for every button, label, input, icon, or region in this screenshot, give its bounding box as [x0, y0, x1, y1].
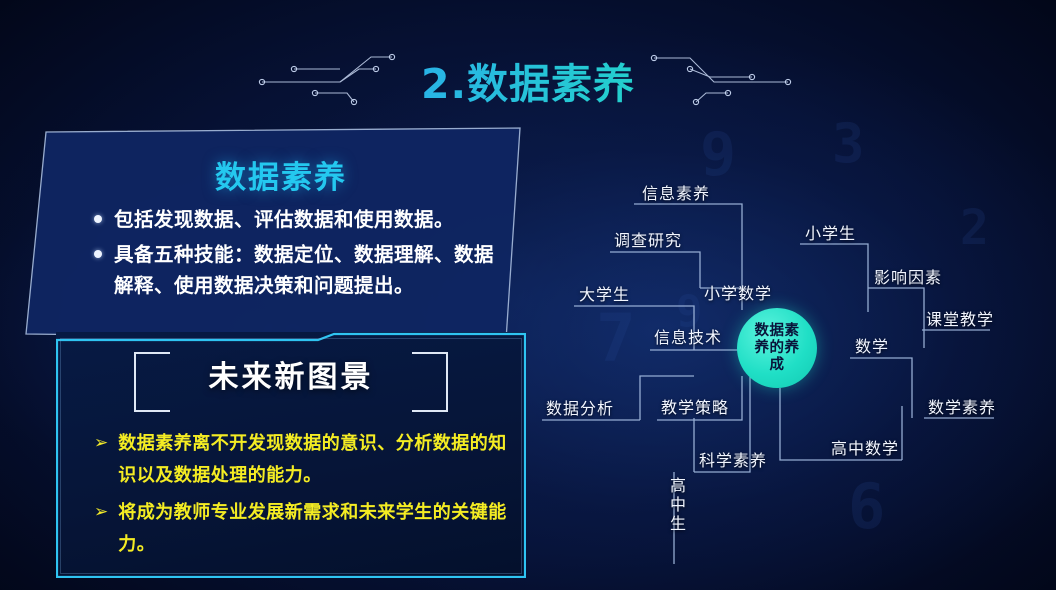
- mindmap-node: 教学策略: [661, 394, 729, 418]
- bullet-list: 包括发现数据、评估数据和使用数据。 具备五种技能：数据定位、数据理解、数据解释、…: [94, 204, 504, 305]
- list-item: ➢ 数据素养离不开发现数据的意识、分析数据的知识以及数据处理的能力。: [94, 428, 508, 492]
- list-item-text: 具备五种技能：数据定位、数据理解、数据解释、使用数据决策和问题提出。: [114, 239, 504, 301]
- list-item-text: 数据素养离不开发现数据的意识、分析数据的知识以及数据处理的能力。: [118, 428, 508, 492]
- arrow-bullet-icon: ➢: [94, 497, 108, 528]
- circuit-decoration-right: [648, 44, 798, 118]
- panel-heading: 数据素养: [22, 152, 540, 197]
- future-vision-panel: 未来新图景 ➢ 数据素养离不开发现数据的意识、分析数据的知识以及数据处理的能力。…: [56, 332, 526, 578]
- page-title: 2.数据素养: [0, 50, 1056, 110]
- bullet-dot-icon: [94, 250, 102, 258]
- mindmap-node: 科学素养: [699, 447, 767, 471]
- mindmap: 数据素养的养成 信息素养调查研究大学生小学数学信息技术数据分析教学策略科学素养高…: [524, 160, 1056, 590]
- mindmap-node: 高中数学: [831, 435, 899, 459]
- data-literacy-panel: 数据素养 包括发现数据、评估数据和使用数据。 具备五种技能：数据定位、数据理解、…: [22, 126, 540, 344]
- panel-heading: 未来新图景: [56, 352, 526, 396]
- bullet-dot-icon: [94, 215, 102, 223]
- arrow-bullet-icon: ➢: [94, 428, 108, 459]
- mindmap-node: 信息技术: [654, 324, 722, 348]
- mindmap-node: 数学素养: [928, 394, 996, 418]
- list-item: ➢ 将成为教师专业发展新需求和未来学生的关键能力。: [94, 497, 508, 561]
- list-item: 具备五种技能：数据定位、数据理解、数据解释、使用数据决策和问题提出。: [94, 239, 504, 301]
- mindmap-node: 课堂教学: [926, 306, 994, 330]
- bullet-list: ➢ 数据素养离不开发现数据的意识、分析数据的知识以及数据处理的能力。 ➢ 将成为…: [94, 428, 508, 566]
- mindmap-node: 数据分析: [546, 395, 614, 419]
- list-item-text: 包括发现数据、评估数据和使用数据。: [114, 204, 454, 235]
- mindmap-node: 小学数学: [704, 280, 772, 304]
- mindmap-node: 大学生: [579, 281, 630, 305]
- mindmap-center-node: 数据素养的养成: [737, 308, 817, 388]
- mindmap-center-label: 数据素养的养成: [748, 323, 806, 374]
- mindmap-node: 影响因素: [874, 264, 942, 288]
- mindmap-node: 小学生: [805, 220, 856, 244]
- list-item: 包括发现数据、评估数据和使用数据。: [94, 204, 504, 235]
- list-item-text: 将成为教师专业发展新需求和未来学生的关键能力。: [118, 497, 508, 561]
- slide-canvas: 93791485062 2.数据素养: [0, 0, 1056, 590]
- mindmap-node: 信息素养: [642, 180, 710, 204]
- mindmap-node: 调查研究: [614, 227, 682, 251]
- mindmap-node: 高中生: [664, 477, 688, 534]
- mindmap-node: 数学: [855, 333, 889, 357]
